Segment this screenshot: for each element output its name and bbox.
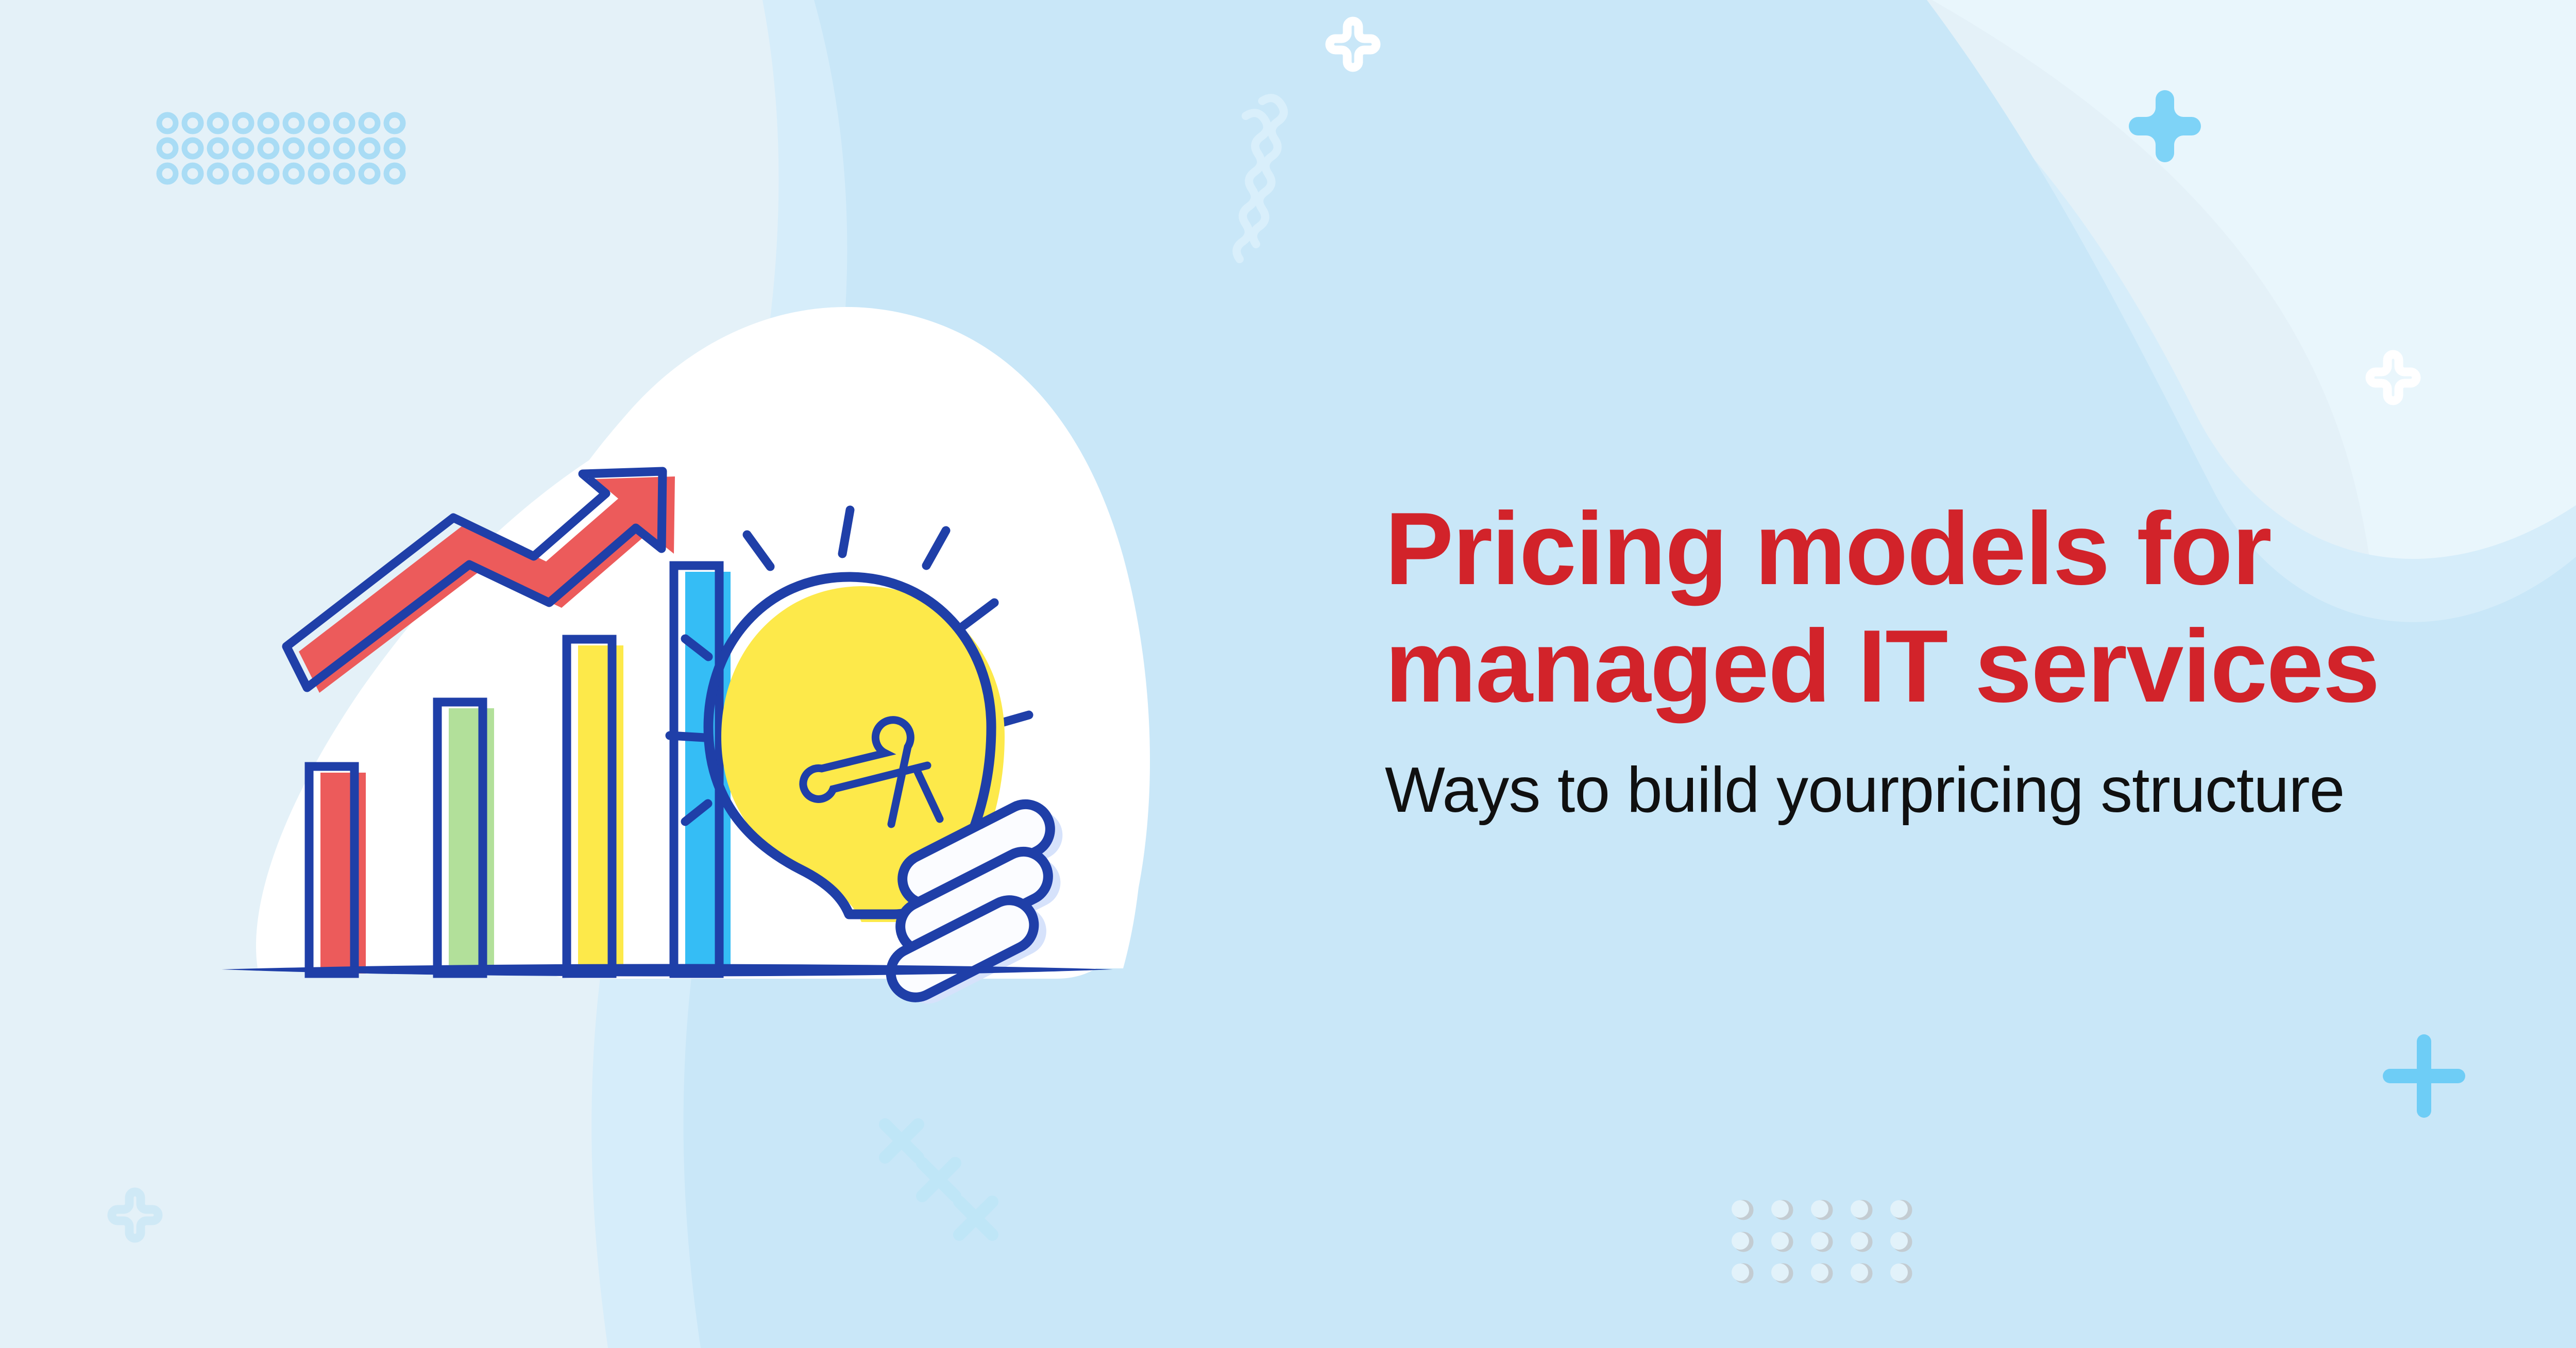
bar-red-fill: [320, 773, 366, 974]
headline-block: Pricing models for managed IT services W…: [1385, 490, 2467, 829]
bar-green-fill: [449, 708, 494, 974]
page-subtitle: Ways to build yourpricing structure: [1385, 725, 2467, 829]
bar-yellow-fill: [578, 645, 623, 974]
promo-banner: Pricing models for managed IT services W…: [0, 0, 2576, 1348]
bar-cyan-fill: [685, 572, 731, 974]
page-title: Pricing models for managed IT services: [1385, 490, 2467, 725]
